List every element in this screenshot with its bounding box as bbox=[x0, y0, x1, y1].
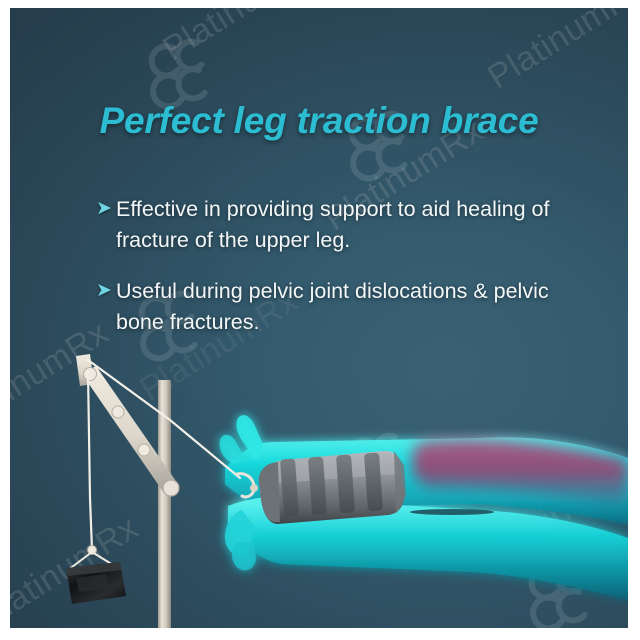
feature-list: ➤ Effective in providing support to aid … bbox=[96, 194, 586, 358]
list-item: ➤ Effective in providing support to aid … bbox=[96, 194, 586, 256]
watermark-text: PlatinumRx bbox=[156, 8, 328, 69]
list-item-label: Effective in providing support to aid he… bbox=[116, 194, 568, 256]
list-item: ➤ Useful during pelvic joint dislocation… bbox=[96, 276, 586, 338]
product-poster: PlatinumRx PlatinumRx PlatinumRx Platinu… bbox=[10, 8, 628, 628]
list-item-label: Useful during pelvic joint dislocations … bbox=[116, 276, 568, 338]
arrow-bullet-icon: ➤ bbox=[96, 194, 116, 224]
limb-seam bbox=[410, 509, 494, 515]
arrow-bullet-icon: ➤ bbox=[96, 276, 116, 306]
counterweight-block bbox=[66, 552, 126, 604]
watermark-text: PlatinumRx bbox=[481, 8, 628, 97]
leg-brace bbox=[259, 451, 406, 524]
product-illustration bbox=[10, 338, 628, 628]
page-title: Perfect leg traction brace bbox=[10, 100, 628, 142]
